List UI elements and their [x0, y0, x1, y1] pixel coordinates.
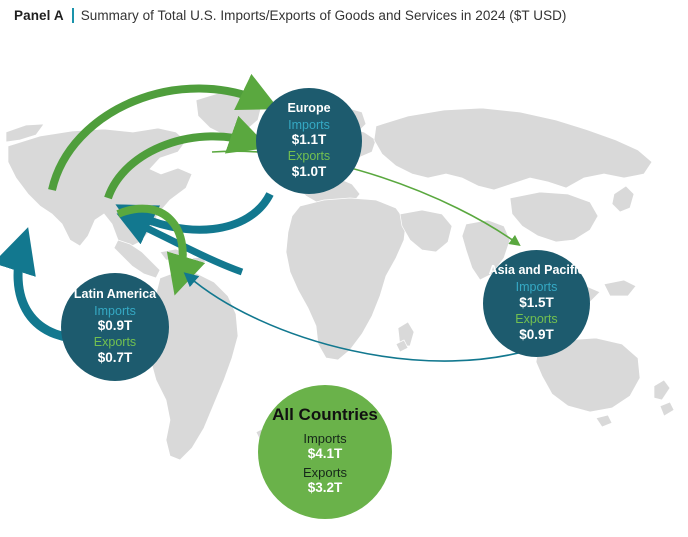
region-name-all-countries: All Countries	[272, 405, 378, 425]
exports-value-europe: $1.0T	[292, 164, 327, 180]
panel-label: Panel A	[14, 8, 64, 23]
exports-label-asia-and-pacific: Exports	[515, 312, 557, 327]
imports-value-all-countries: $4.1T	[308, 446, 343, 462]
title-separator	[72, 8, 74, 23]
panel-header: Panel A Summary of Total U.S. Imports/Ex…	[0, 0, 688, 30]
export-arrow-us-asia	[212, 151, 518, 244]
imports-value-europe: $1.1T	[292, 132, 327, 148]
page-title: Summary of Total U.S. Imports/Exports of…	[81, 8, 567, 23]
world-map-panel: Europe Imports $1.1T Exports $1.0T Latin…	[0, 28, 688, 537]
region-name-europe: Europe	[287, 101, 330, 116]
imports-value-asia-and-pacific: $1.5T	[519, 295, 554, 311]
region-name-asia-and-pacific: Asia and Pacific	[489, 263, 585, 278]
imports-label-asia-and-pacific: Imports	[516, 280, 558, 295]
region-bubble-europe[interactable]: Europe Imports $1.1T Exports $1.0T	[256, 88, 362, 194]
exports-label-europe: Exports	[288, 149, 330, 164]
imports-label-europe: Imports	[288, 118, 330, 133]
imports-value-latin-america: $0.9T	[98, 318, 133, 334]
exports-label-all-countries: Exports	[303, 465, 347, 480]
region-name-latin-america: Latin America	[74, 287, 156, 302]
exports-value-asia-and-pacific: $0.9T	[519, 327, 554, 343]
export-arrow-us-europe-lower	[108, 136, 258, 198]
exports-value-all-countries: $3.2T	[308, 480, 343, 496]
imports-label-latin-america: Imports	[94, 304, 136, 319]
region-bubble-all-countries[interactable]: All Countries Imports $4.1T Exports $3.2…	[258, 385, 392, 519]
region-bubble-latin-america[interactable]: Latin America Imports $0.9T Exports $0.7…	[61, 273, 169, 381]
region-bubble-asia-and-pacific[interactable]: Asia and Pacific Imports $1.5T Exports $…	[483, 250, 590, 357]
imports-label-all-countries: Imports	[303, 431, 346, 446]
exports-label-latin-america: Exports	[94, 335, 136, 350]
exports-value-latin-america: $0.7T	[98, 350, 133, 366]
